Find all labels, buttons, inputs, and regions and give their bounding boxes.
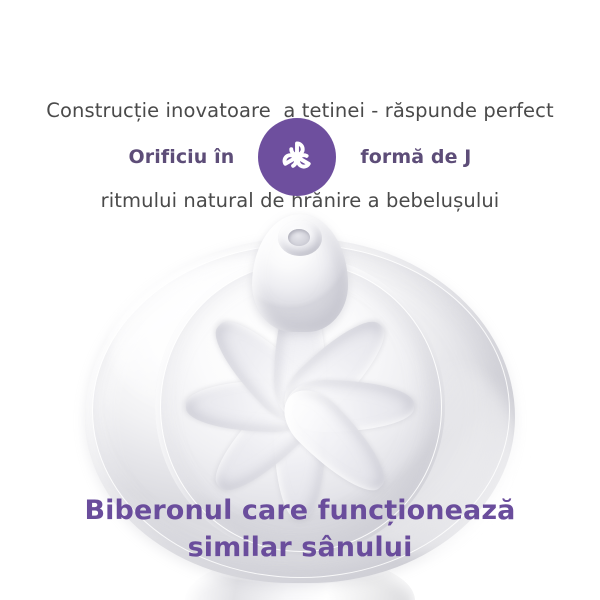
- j-hole-badge: [258, 118, 336, 196]
- caption-line-1: Biberonul care funcționează: [0, 492, 600, 529]
- caption: Biberonul care funcționează similar sânu…: [0, 492, 600, 566]
- nipple-hole: [288, 229, 310, 246]
- badge-label-right: formă de J: [360, 148, 471, 167]
- caption-line-2: similar sânului: [0, 529, 600, 566]
- badge-label-left: Orificiu în: [129, 148, 235, 167]
- badge-row: Orificiu în: [0, 118, 600, 196]
- infographic-page: Construcție inovatoare a tetinei - răspu…: [0, 0, 600, 600]
- j-shaped-hole-triskelion-icon: [271, 131, 323, 183]
